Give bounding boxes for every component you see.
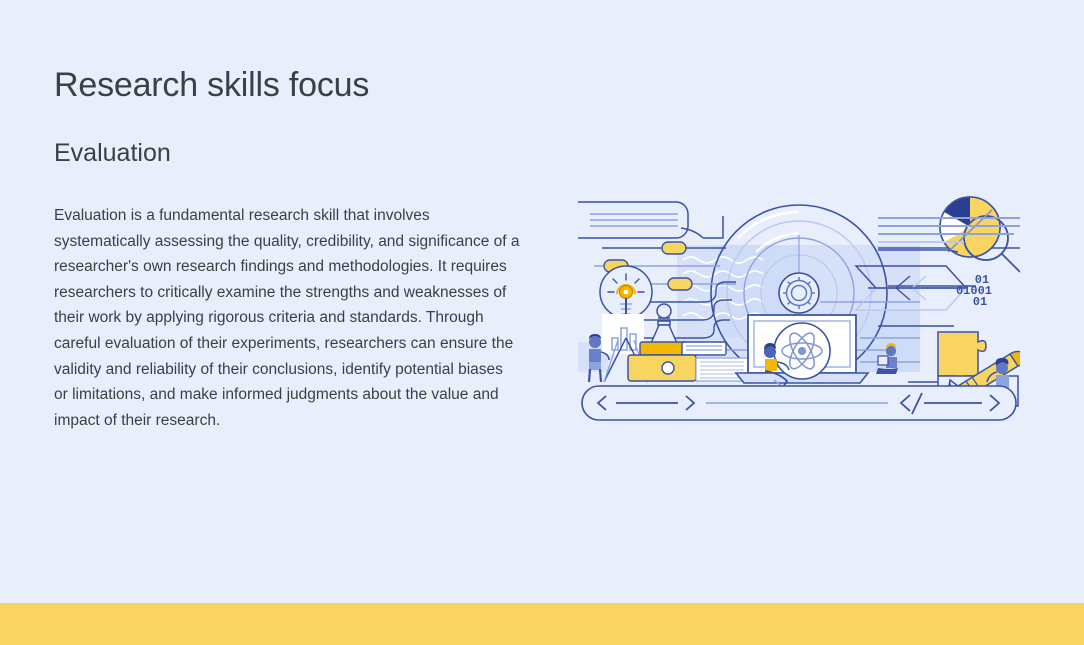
page-root: Research skills focus Evaluation Evaluat… [0, 0, 1084, 645]
binary-digits: 01 01001 01 [956, 273, 992, 309]
atom-icon [774, 323, 830, 379]
section-title: Evaluation [54, 138, 1034, 169]
gear-icon [779, 273, 819, 313]
speech-bubble-icon [578, 202, 723, 238]
text-content: Research skills focus Evaluation [54, 64, 1034, 169]
footer-bar [0, 603, 1084, 645]
page-title: Research skills focus [54, 64, 1034, 107]
body-column: Evaluation is a fundamental research ski… [54, 203, 520, 433]
chess-pawn-icon [650, 304, 678, 345]
research-evaluation-illustration: 01 01001 01 [578, 190, 1020, 422]
laptop-atom [736, 315, 868, 383]
body-paragraph: Evaluation is a fundamental research ski… [54, 203, 520, 433]
binary-line-3: 01 [973, 295, 987, 309]
bottom-nav-bar [582, 386, 1016, 420]
